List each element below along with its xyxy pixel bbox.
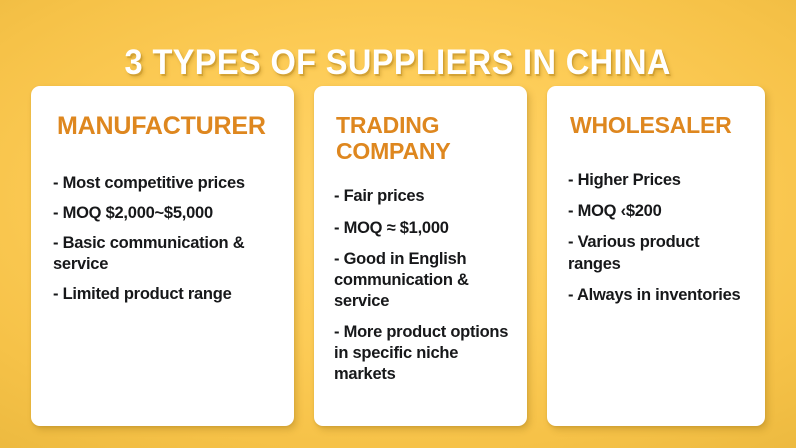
card-title-manufacturer: MANUFACTURER xyxy=(57,112,278,141)
list-item: - MOQ ≈ $1,000 xyxy=(334,218,513,239)
list-item: - MOQ ‹$200 xyxy=(568,201,751,222)
list-item: - Fair prices xyxy=(334,186,513,207)
cards-row: MANUFACTURER - Most competitive prices -… xyxy=(31,86,765,426)
page-title: 3 TYPES OF SUPPLIERS IN CHINA xyxy=(125,45,671,82)
list-item: - Always in inventories xyxy=(568,285,751,306)
list-item: - MOQ $2,000~$5,000 xyxy=(53,203,278,224)
feature-list-trading-company: - Fair prices - MOQ ≈ $1,000 - Good in E… xyxy=(334,186,513,385)
list-item: - Limited product range xyxy=(53,284,278,305)
card-title-wholesaler: WHOLESALER xyxy=(570,112,751,138)
list-item: - Most competitive prices xyxy=(53,173,278,194)
list-item: - Good in English communication & servic… xyxy=(334,249,513,312)
list-item: - Various product ranges xyxy=(568,232,751,274)
list-item: - More product options in specific niche… xyxy=(334,322,513,385)
card-title-trading-company: TRADING COMPANY xyxy=(336,112,513,164)
feature-list-manufacturer: - Most competitive prices - MOQ $2,000~$… xyxy=(53,173,278,306)
feature-list-wholesaler: - Higher Prices - MOQ ‹$200 - Various pr… xyxy=(568,170,751,306)
supplier-card-manufacturer: MANUFACTURER - Most competitive prices -… xyxy=(31,86,294,426)
supplier-types-infographic: 3 TYPES OF SUPPLIERS IN CHINA MANUFACTUR… xyxy=(0,0,796,448)
supplier-card-trading-company: TRADING COMPANY - Fair prices - MOQ ≈ $1… xyxy=(314,86,527,426)
list-item: - Higher Prices xyxy=(568,170,751,191)
list-item: - Basic communication & service xyxy=(53,233,278,275)
supplier-card-wholesaler: WHOLESALER - Higher Prices - MOQ ‹$200 -… xyxy=(547,86,765,426)
